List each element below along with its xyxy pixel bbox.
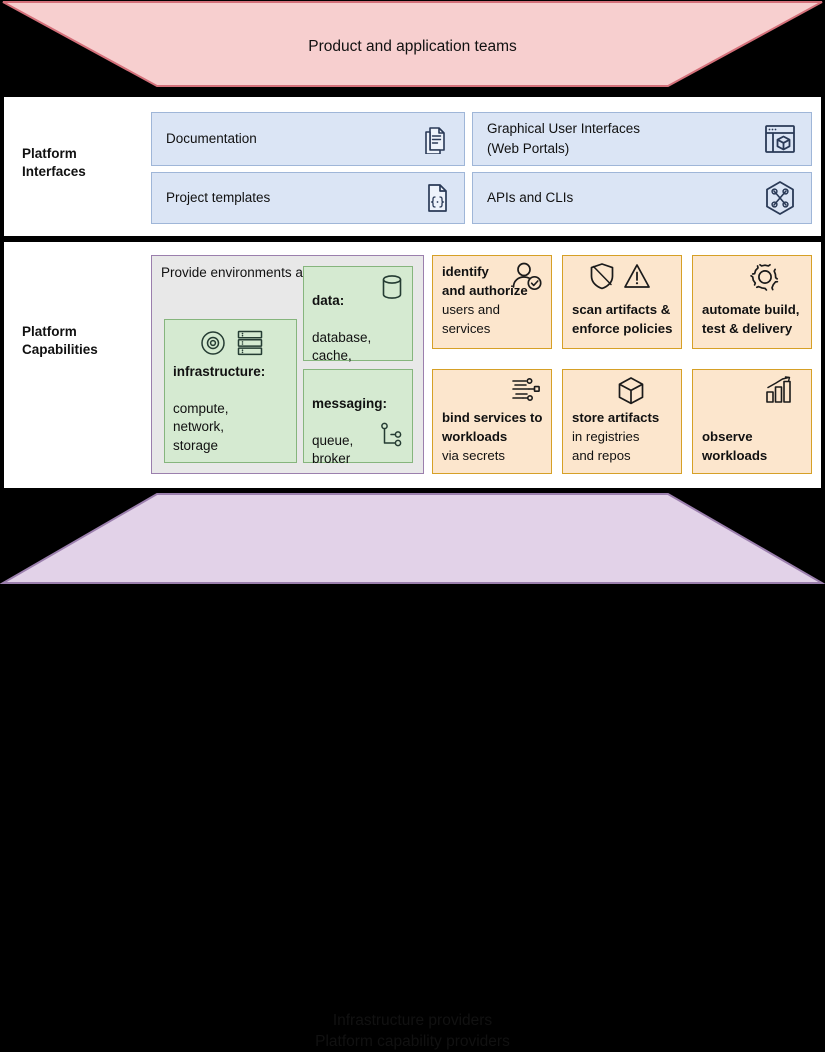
interface-card-label: APIs and CLIs — [487, 188, 573, 208]
capability-card-heading: identify and authorize — [442, 264, 528, 298]
resource-card-heading: infrastructure: — [173, 364, 265, 379]
resource-card-heading: data: — [312, 293, 344, 308]
interface-card-gui[interactable]: Graphical User Interfaces (Web Portals) — [472, 112, 812, 166]
database-cylinder-icon — [379, 290, 405, 307]
resource-card-text: messaging: queue, broker — [312, 376, 387, 469]
platform-capabilities-title: Platform Capabilities — [22, 323, 98, 359]
capability-card-text: identify and authorize users and service… — [442, 262, 545, 338]
resource-card-body: compute, network, storage — [173, 401, 229, 453]
providers-band: Infrastructure providers Platform capabi… — [0, 492, 825, 585]
interface-card-label: Graphical User Interfaces (Web Portals) — [487, 119, 640, 159]
capability-card-heading: store artifacts — [572, 410, 659, 425]
capability-card-scan[interactable]: scan artifacts & enforce policies — [562, 255, 682, 349]
provide-environments-group: Provide environments and resources — [151, 255, 424, 474]
capability-card-body: users and services — [442, 302, 500, 336]
documents-icon — [422, 124, 450, 154]
providers-line-2: Platform capability providers — [0, 1031, 825, 1052]
capability-card-text: observe workloads — [702, 427, 805, 465]
capability-card-heading: observe workloads — [702, 429, 767, 463]
resource-card-body: queue, broker — [312, 433, 353, 467]
shield-icon — [592, 264, 613, 288]
capability-card-body: in registries and repos — [572, 429, 639, 463]
resource-card-text: infrastructure: compute, network, storag… — [173, 344, 265, 455]
capability-card-identify[interactable]: identify and authorize users and service… — [432, 255, 552, 349]
interface-card-project-templates[interactable]: Project templates — [151, 172, 465, 224]
package-cube-icon — [616, 375, 646, 412]
resource-card-data[interactable]: data: database, cache, bucket — [303, 266, 413, 361]
resource-card-messaging[interactable]: messaging: queue, broker — [303, 369, 413, 463]
interface-card-label: Project templates — [166, 188, 270, 208]
capability-card-text: automate build, test & delivery — [702, 300, 805, 338]
capability-card-heading: automate build, test & delivery — [702, 302, 799, 336]
data-icons — [379, 273, 405, 308]
capability-card-text: scan artifacts & enforce policies — [572, 300, 675, 338]
providers-trapezoid-icon — [0, 492, 825, 585]
warning-triangle-icon — [625, 265, 649, 287]
platform-interfaces-title: Platform Interfaces — [22, 145, 86, 181]
providers-label: Infrastructure providers Platform capabi… — [0, 1010, 825, 1052]
capability-card-heading: bind services to workloads — [442, 410, 542, 444]
resource-card-infrastructure[interactable]: infrastructure: compute, network, storag… — [164, 319, 297, 463]
consumers-label: Product and application teams — [0, 36, 825, 57]
scan-icons — [587, 261, 659, 298]
code-file-icon — [424, 182, 450, 214]
interface-card-documentation[interactable]: Documentation — [151, 112, 465, 166]
capability-card-automate[interactable]: automate build, test & delivery — [692, 255, 812, 349]
capability-card-body: via secrets — [442, 448, 505, 463]
capability-card-text: store artifacts in registries and repos — [572, 408, 675, 465]
capability-card-bind[interactable]: bind services to workloads via secrets — [432, 369, 552, 474]
capability-card-heading: scan artifacts & enforce policies — [572, 302, 672, 336]
interface-card-apis-clis[interactable]: APIs and CLIs — [472, 172, 812, 224]
providers-line-1: Infrastructure providers — [0, 1010, 825, 1031]
service-binding-icon — [510, 375, 544, 410]
interface-card-label: Documentation — [166, 129, 257, 149]
platform-architecture-diagram: Product and application teams Platform I… — [0, 0, 825, 585]
resource-card-text: data: database, cache, bucket — [312, 273, 371, 384]
gear-icon — [749, 261, 781, 298]
browser-window-cube-icon — [763, 122, 797, 156]
hexagon-tools-icon — [763, 180, 797, 216]
capability-card-store[interactable]: store artifacts in registries and repos — [562, 369, 682, 474]
bar-chart-trend-icon — [763, 375, 795, 410]
consumers-band: Product and application teams — [0, 0, 825, 90]
capability-card-text: bind services to workloads via secrets — [442, 408, 545, 465]
capability-card-observe[interactable]: observe workloads — [692, 369, 812, 474]
resource-card-heading: messaging: — [312, 396, 387, 411]
